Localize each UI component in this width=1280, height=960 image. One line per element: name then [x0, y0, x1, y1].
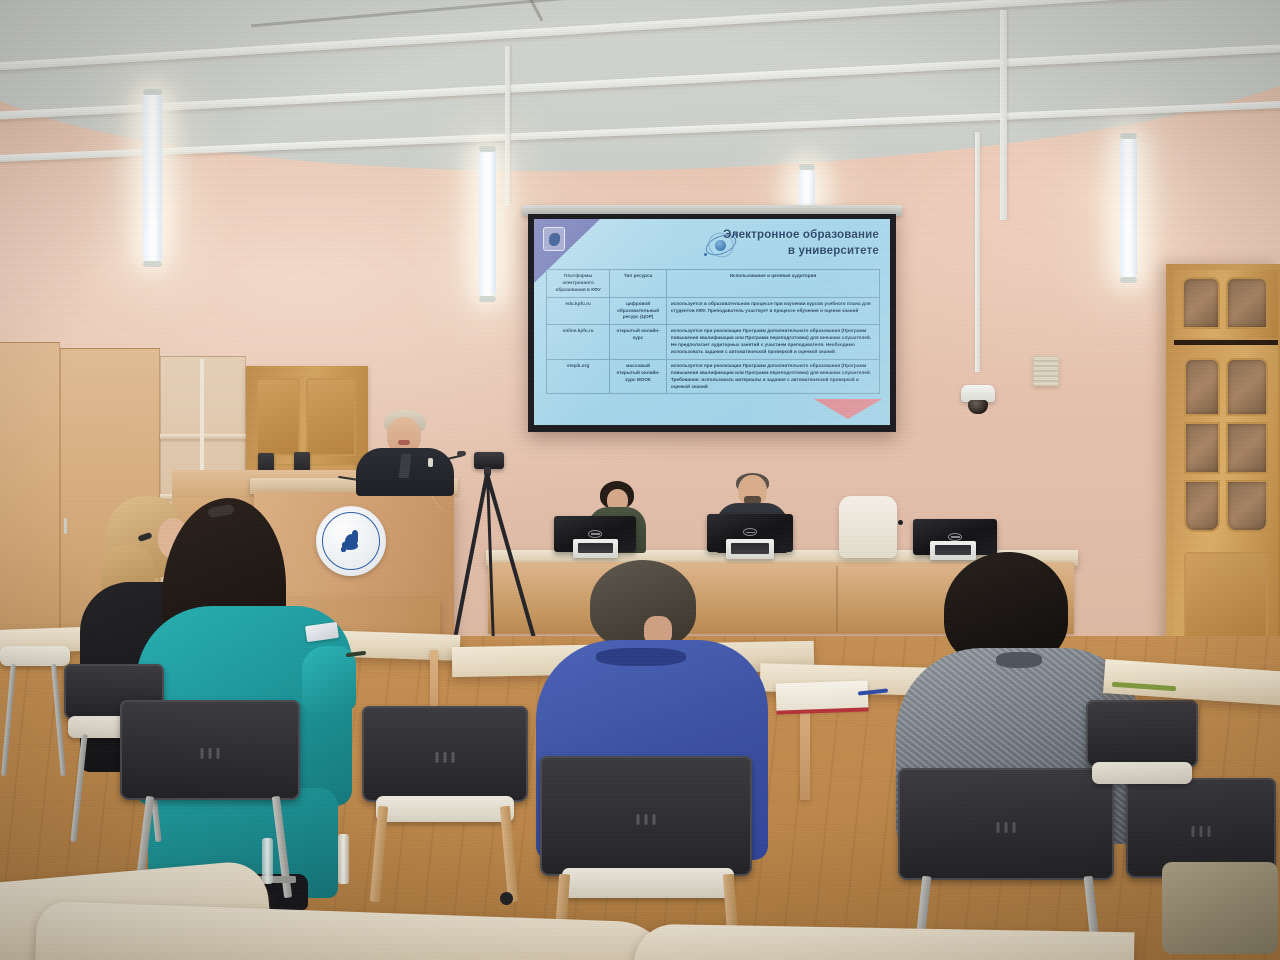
- chair-backrest: [1086, 700, 1198, 768]
- cell-platform: online.kpfu.ru: [547, 325, 610, 360]
- chair-backrest: [120, 700, 300, 800]
- presidium-panel-seam: [836, 566, 838, 632]
- table-header-row: Платформы электронного образования в КФУ…: [547, 270, 880, 298]
- lamp-4: [1120, 137, 1137, 279]
- cell-usage: используется при реализации Программ доп…: [666, 359, 879, 394]
- slide-title: Электронное образование в университете: [723, 228, 879, 260]
- chair-seat: [376, 796, 514, 822]
- table-row: stepik.org массовый открытый онлайн-курс…: [547, 359, 880, 394]
- camera-tripod[interactable]: [452, 452, 532, 662]
- table-row: online.kpfu.ru открытый онлайн-курс испо…: [547, 325, 880, 360]
- water-bottle[interactable]: [262, 838, 273, 884]
- mouth: [398, 440, 410, 445]
- projection-screen: Электронное образование в университете П…: [528, 214, 896, 432]
- chair-backrest: [362, 706, 528, 802]
- table-header-usage: Использование и целевая аудитория: [666, 270, 879, 298]
- wooden-glass-door[interactable]: [1166, 264, 1280, 664]
- chair-backrest: [540, 756, 752, 876]
- desk-cable: [898, 520, 903, 525]
- chair-seat: [1092, 762, 1192, 784]
- wardrobe-panel: [306, 378, 356, 456]
- chair-left-of-center[interactable]: [362, 706, 538, 906]
- slide-table: Платформы электронного образования в КФУ…: [546, 269, 880, 394]
- chair-seat: [562, 868, 734, 898]
- chair-backrest-slots: [436, 752, 455, 763]
- cell-type: открытый онлайн-курс: [610, 325, 667, 360]
- water-bottle[interactable]: [338, 834, 349, 884]
- chair-backrest-slots: [637, 814, 656, 825]
- cell-type: цифровой образовательный ресурс (ЦОР): [610, 297, 667, 325]
- slide-university-emblem: [543, 227, 565, 251]
- chair-leg: [500, 806, 518, 903]
- cell-type: массовый открытый онлайн-курс МООК: [610, 359, 667, 394]
- table-header-platform: Платформы электронного образования в КФУ: [547, 270, 610, 298]
- slide-title-line-1: Электронное образование: [723, 228, 879, 244]
- wall-vent-grille: [1033, 356, 1059, 386]
- chair-leg: [370, 806, 388, 903]
- cell-platform: stepik.org: [547, 359, 610, 394]
- open-book-on-desk[interactable]: [776, 680, 869, 711]
- door-pane: [1184, 480, 1220, 532]
- cell-usage: используется при реализации Программ доп…: [666, 325, 879, 360]
- chair-leg: [1, 664, 16, 776]
- chair-caster: [500, 892, 513, 905]
- conference-room-photo: Электронное образование в университете П…: [0, 0, 1280, 960]
- lapel-pin: [428, 458, 433, 467]
- chair-left-empty[interactable]: [0, 646, 70, 796]
- chair-backrest-slots: [1192, 826, 1211, 837]
- door-pane: [1226, 422, 1268, 474]
- keyboard-left[interactable]: [573, 539, 618, 558]
- cell-usage: используется в образовательном процессе …: [666, 297, 879, 325]
- door-pane: [1226, 277, 1268, 329]
- door-pane: [1182, 277, 1220, 329]
- keyboard-center[interactable]: [726, 539, 774, 559]
- wardrobe-panel: [256, 378, 300, 456]
- presentation-slide: Электронное образование в университете П…: [534, 219, 890, 425]
- coat-on-chair: [1162, 862, 1278, 954]
- lamp-2: [479, 150, 496, 298]
- chair-seat: [0, 646, 70, 666]
- cell-platform: edu.kpfu.ru: [547, 297, 610, 325]
- slide-triangle-decoration: [814, 399, 882, 419]
- chair-leg: [70, 734, 87, 842]
- presenter-speaker: [356, 410, 454, 494]
- wall-seam-vertical: [1000, 10, 1007, 220]
- camera-mount-pole: [975, 132, 980, 372]
- table-header-type: Тип ресурса: [610, 270, 667, 298]
- collar: [596, 648, 686, 666]
- wall-seam-vertical-2: [505, 46, 510, 206]
- table-row: edu.kpfu.ru цифровой образовательный рес…: [547, 297, 880, 325]
- chair-right-mid[interactable]: [1086, 700, 1206, 820]
- door-pane: [1184, 422, 1220, 474]
- chair-backrest-slots: [201, 748, 220, 759]
- door-pane: [1226, 358, 1268, 416]
- lamp-1: [143, 93, 162, 263]
- collar: [996, 652, 1042, 668]
- hair: [590, 560, 696, 648]
- door-pane: [1184, 358, 1220, 416]
- slide-title-line-2: в университете: [723, 244, 879, 260]
- door-pane: [1226, 480, 1268, 532]
- door-lower-panel: [1184, 552, 1268, 648]
- chair-backrest-slots: [997, 822, 1016, 833]
- empty-white-armchair[interactable]: [839, 496, 897, 558]
- chair-backrest: [898, 768, 1114, 880]
